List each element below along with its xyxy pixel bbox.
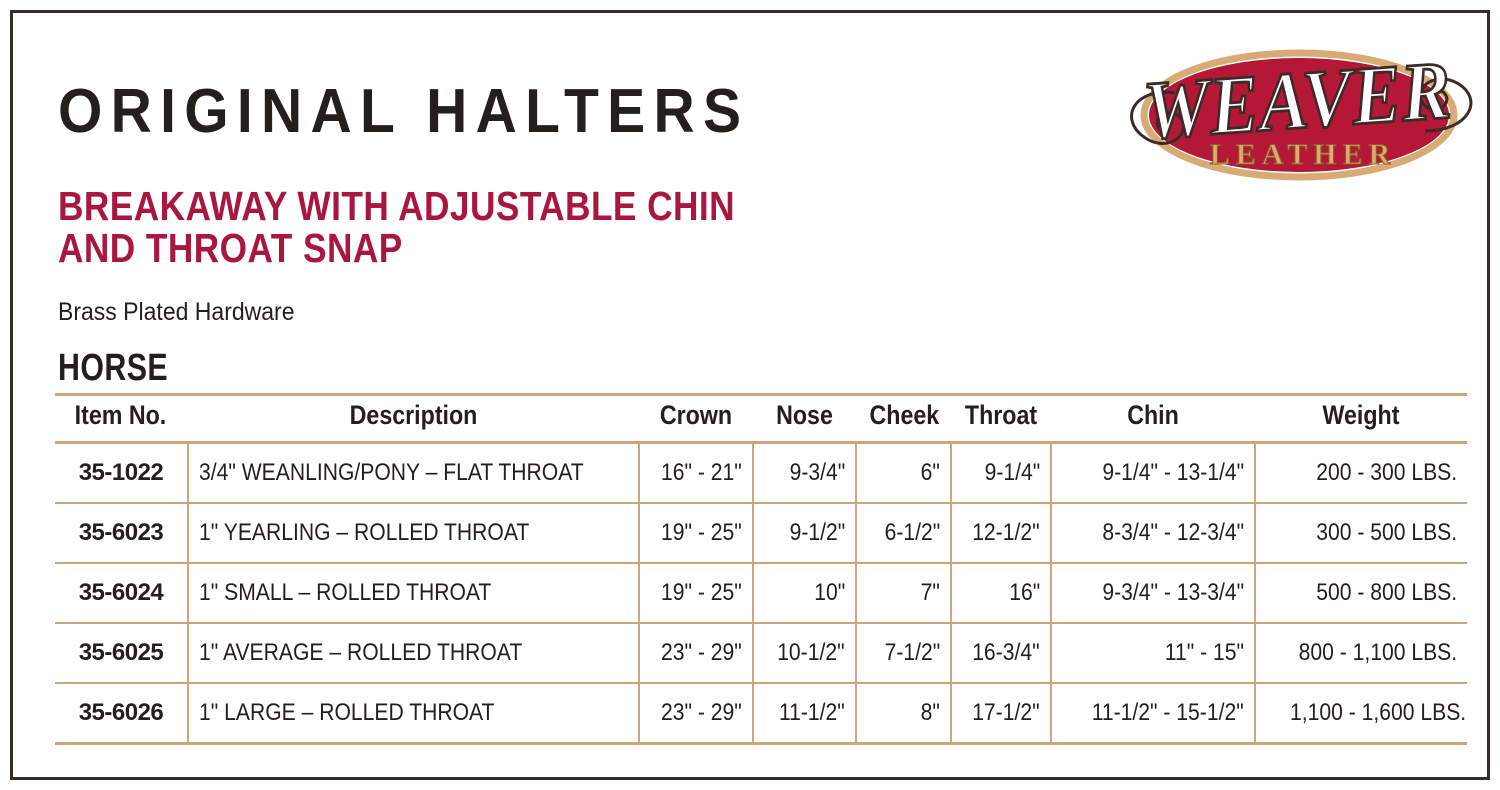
cell-crown-text: 19" - 25" — [661, 579, 742, 607]
cell-description: 1" LARGE – ROLLED THROAT — [188, 683, 639, 744]
subtitle-line-2: AND THROAT SNAP — [58, 227, 735, 269]
cell-weight-text: 1,100 - 1,600 LBS. — [1290, 699, 1466, 727]
cell-weight: 200 - 300 LBS. — [1255, 443, 1467, 504]
page-title: ORIGINAL HALTERS — [58, 81, 749, 143]
cell-throat: 9-1/4" — [951, 443, 1051, 504]
cell-cheek-text: 7" — [921, 579, 940, 607]
cell-throat: 16" — [951, 563, 1051, 623]
cell-throat-text: 16" — [1009, 579, 1040, 607]
cell-cheek: 6" — [856, 443, 951, 504]
cell-cheek: 6-1/2" — [856, 503, 951, 563]
cell-nose: 10" — [753, 563, 856, 623]
logo-svg: WEAVER LEATHER — [1113, 35, 1493, 200]
column-header-crown: Crown — [647, 395, 745, 443]
cell-throat-text: 12-1/2" — [973, 519, 1040, 547]
cell-cheek-text: 6-1/2" — [884, 519, 940, 547]
cell-description: 1" SMALL – ROLLED THROAT — [188, 563, 639, 623]
column-header-description: Description — [220, 395, 608, 443]
column-header-nose: Nose — [760, 395, 849, 443]
cell-nose: 11-1/2" — [753, 683, 856, 744]
cell-crown-text: 16" - 21" — [661, 459, 742, 487]
hardware-note: Brass Plated Hardware — [58, 298, 294, 327]
cell-weight: 500 - 800 LBS. — [1255, 563, 1467, 623]
size-table-container: Item No. Description Crown Nose Cheek Th… — [55, 393, 1467, 745]
cell-nose: 9-3/4" — [753, 443, 856, 504]
cell-throat: 17-1/2" — [951, 683, 1051, 744]
cell-chin: 9-1/4" - 13-1/4" — [1051, 443, 1255, 504]
cell-item-no: 35-1022 — [55, 443, 188, 504]
column-header-item-no: Item No. — [64, 395, 178, 443]
column-header-weight: Weight — [1270, 395, 1452, 443]
cell-throat-text: 17-1/2" — [973, 699, 1040, 727]
cell-chin-text: 9-3/4" - 13-3/4" — [1102, 579, 1244, 607]
cell-cheek: 8" — [856, 683, 951, 744]
cell-throat: 16-3/4" — [951, 623, 1051, 683]
cell-crown-text: 23" - 29" — [661, 639, 742, 667]
table-row: 35-6025 1" AVERAGE – ROLLED THROAT 23" -… — [55, 623, 1467, 683]
cell-item-no: 35-6026 — [55, 683, 188, 744]
cell-nose: 9-1/2" — [753, 503, 856, 563]
cell-crown-text: 19" - 25" — [661, 519, 742, 547]
cell-crown: 19" - 25" — [639, 503, 753, 563]
table-row: 35-6024 1" SMALL – ROLLED THROAT 19" - 2… — [55, 563, 1467, 623]
cell-description-text: 1" SMALL – ROLLED THROAT — [199, 579, 491, 607]
cell-chin: 8-3/4" - 12-3/4" — [1051, 503, 1255, 563]
cell-description-text: 3/4" WEANLING/PONY – FLAT THROAT — [199, 459, 584, 487]
column-header-cheek: Cheek — [863, 395, 945, 443]
cell-description: 1" AVERAGE – ROLLED THROAT — [188, 623, 639, 683]
cell-chin-text: 8-3/4" - 12-3/4" — [1102, 519, 1244, 547]
cell-weight: 300 - 500 LBS. — [1255, 503, 1467, 563]
cell-chin-text: 9-1/4" - 13-1/4" — [1102, 459, 1244, 487]
cell-cheek-text: 8" — [921, 699, 940, 727]
cell-cheek: 7-1/2" — [856, 623, 951, 683]
cell-crown: 16" - 21" — [639, 443, 753, 504]
column-header-chin: Chin — [1065, 395, 1240, 443]
cell-nose-text: 10" — [814, 579, 845, 607]
cell-description-text: 1" YEARLING – ROLLED THROAT — [199, 519, 529, 547]
cell-nose-text: 11-1/2" — [779, 699, 845, 727]
cell-weight-text: 200 - 300 LBS. — [1316, 459, 1457, 487]
size-table-header: Item No. Description Crown Nose Cheek Th… — [55, 395, 1467, 443]
cell-weight: 1,100 - 1,600 LBS. — [1255, 683, 1467, 744]
cell-description: 3/4" WEANLING/PONY – FLAT THROAT — [188, 443, 639, 504]
table-row: 35-1022 3/4" WEANLING/PONY – FLAT THROAT… — [55, 443, 1467, 504]
cell-weight-text: 300 - 500 LBS. — [1316, 519, 1457, 547]
cell-nose-text: 10-1/2" — [778, 639, 845, 667]
svg-text:LEATHER: LEATHER — [1210, 138, 1396, 171]
cell-throat-text: 9-1/4" — [984, 459, 1040, 487]
size-table-body: 35-1022 3/4" WEANLING/PONY – FLAT THROAT… — [55, 443, 1467, 744]
cell-weight: 800 - 1,100 LBS. — [1255, 623, 1467, 683]
table-row: 35-6023 1" YEARLING – ROLLED THROAT 19" … — [55, 503, 1467, 563]
cell-chin: 11-1/2" - 15-1/2" — [1051, 683, 1255, 744]
cell-crown: 23" - 29" — [639, 683, 753, 744]
cell-crown: 19" - 25" — [639, 563, 753, 623]
cell-throat: 12-1/2" — [951, 503, 1051, 563]
header-row: Item No. Description Crown Nose Cheek Th… — [55, 395, 1467, 443]
cell-nose-text: 9-3/4" — [789, 459, 845, 487]
cell-crown: 23" - 29" — [639, 623, 753, 683]
size-table: Item No. Description Crown Nose Cheek Th… — [55, 393, 1467, 745]
cell-item-no: 35-6024 — [55, 563, 188, 623]
logo-tagline-text: LEATHER — [1210, 138, 1396, 171]
page-frame-border: ORIGINAL HALTERS BREAKAWAY WITH ADJUSTAB… — [10, 10, 1490, 780]
cell-cheek-text: 6" — [921, 459, 940, 487]
cell-chin-text: 11" - 15" — [1165, 639, 1244, 667]
weaver-leather-logo: WEAVER LEATHER — [1113, 35, 1493, 200]
cell-throat-text: 16-3/4" — [973, 639, 1040, 667]
cell-cheek: 7" — [856, 563, 951, 623]
cell-item-no: 35-6023 — [55, 503, 188, 563]
halter-size-chart-page: ORIGINAL HALTERS BREAKAWAY WITH ADJUSTAB… — [0, 0, 1500, 790]
cell-description-text: 1" AVERAGE – ROLLED THROAT — [199, 639, 522, 667]
cell-chin: 9-3/4" - 13-3/4" — [1051, 563, 1255, 623]
cell-description: 1" YEARLING – ROLLED THROAT — [188, 503, 639, 563]
cell-item-no: 35-6025 — [55, 623, 188, 683]
cell-crown-text: 23" - 29" — [661, 699, 742, 727]
page-subtitle: BREAKAWAY WITH ADJUSTABLE CHIN AND THROA… — [58, 185, 735, 269]
column-header-throat: Throat — [958, 395, 1044, 443]
cell-nose-text: 9-1/2" — [789, 519, 845, 547]
cell-chin-text: 11-1/2" - 15-1/2" — [1092, 699, 1244, 727]
cell-description-text: 1" LARGE – ROLLED THROAT — [199, 699, 494, 727]
table-row: 35-6026 1" LARGE – ROLLED THROAT 23" - 2… — [55, 683, 1467, 744]
cell-nose: 10-1/2" — [753, 623, 856, 683]
cell-weight-text: 500 - 800 LBS. — [1316, 579, 1457, 607]
cell-cheek-text: 7-1/2" — [884, 639, 940, 667]
subtitle-line-1: BREAKAWAY WITH ADJUSTABLE CHIN — [58, 183, 735, 229]
section-heading-horse: HORSE — [58, 349, 168, 387]
cell-weight-text: 800 - 1,100 LBS. — [1298, 639, 1457, 667]
cell-chin: 11" - 15" — [1051, 623, 1255, 683]
